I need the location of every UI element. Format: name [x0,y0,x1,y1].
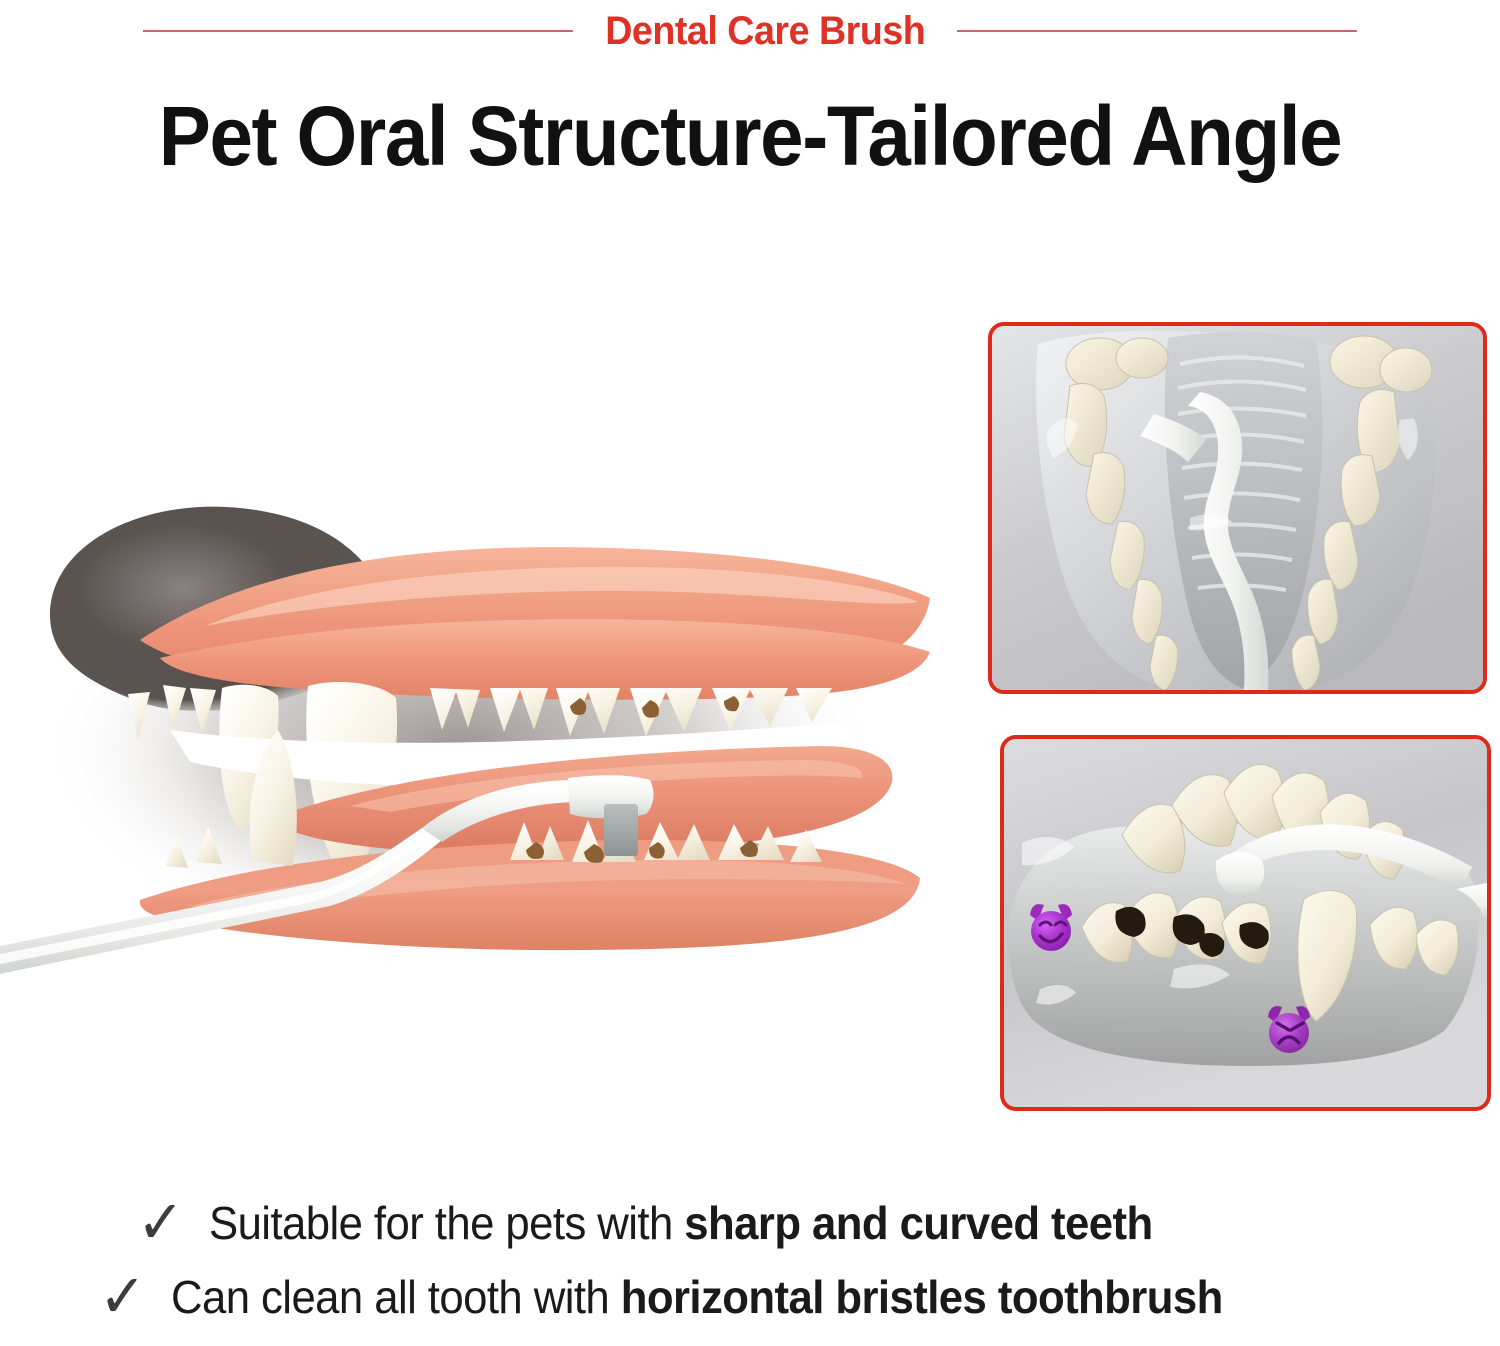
dental-model-upper-jaw-photo [988,322,1487,694]
bullet-strong-text: horizontal bristles toothbrush [621,1271,1223,1323]
bullet-lead-text: Suitable for the pets with [209,1197,684,1249]
list-item: ✓ Can clean all tooth with horizontal br… [0,1270,1500,1324]
dog-mouth-brushing-illustration [0,430,950,990]
devil-emoji-angry [1268,1006,1310,1053]
eyebrow-rule-left [143,30,573,32]
toothbrush-bristles [604,804,638,856]
bullet-strong-text: sharp and curved teeth [685,1197,1153,1249]
eyebrow-rule-right [957,30,1357,32]
devil-emoji-smiling [1030,904,1072,951]
feature-bullet-list: ✓ Suitable for the pets with sharp and c… [0,1196,1500,1324]
eyebrow-header: Dental Care Brush [0,0,1500,62]
list-item: ✓ Suitable for the pets with sharp and c… [0,1196,1500,1250]
bullet-lead-text: Can clean all tooth with [171,1271,621,1323]
bullet-text: Can clean all tooth with horizontal bris… [171,1270,1223,1324]
bullet-text: Suitable for the pets with sharp and cur… [209,1196,1153,1250]
dental-model-side-jaw-photo [1000,735,1491,1111]
checkmark-icon: ✓ [99,1267,147,1327]
checkmark-icon: ✓ [137,1193,185,1253]
page-title: Pet Oral Structure-Tailored Angle [53,92,1448,180]
product-infographic: Dental Care Brush Pet Oral Structure-Tai… [0,0,1500,1346]
eyebrow-title: Dental Care Brush [605,9,925,54]
